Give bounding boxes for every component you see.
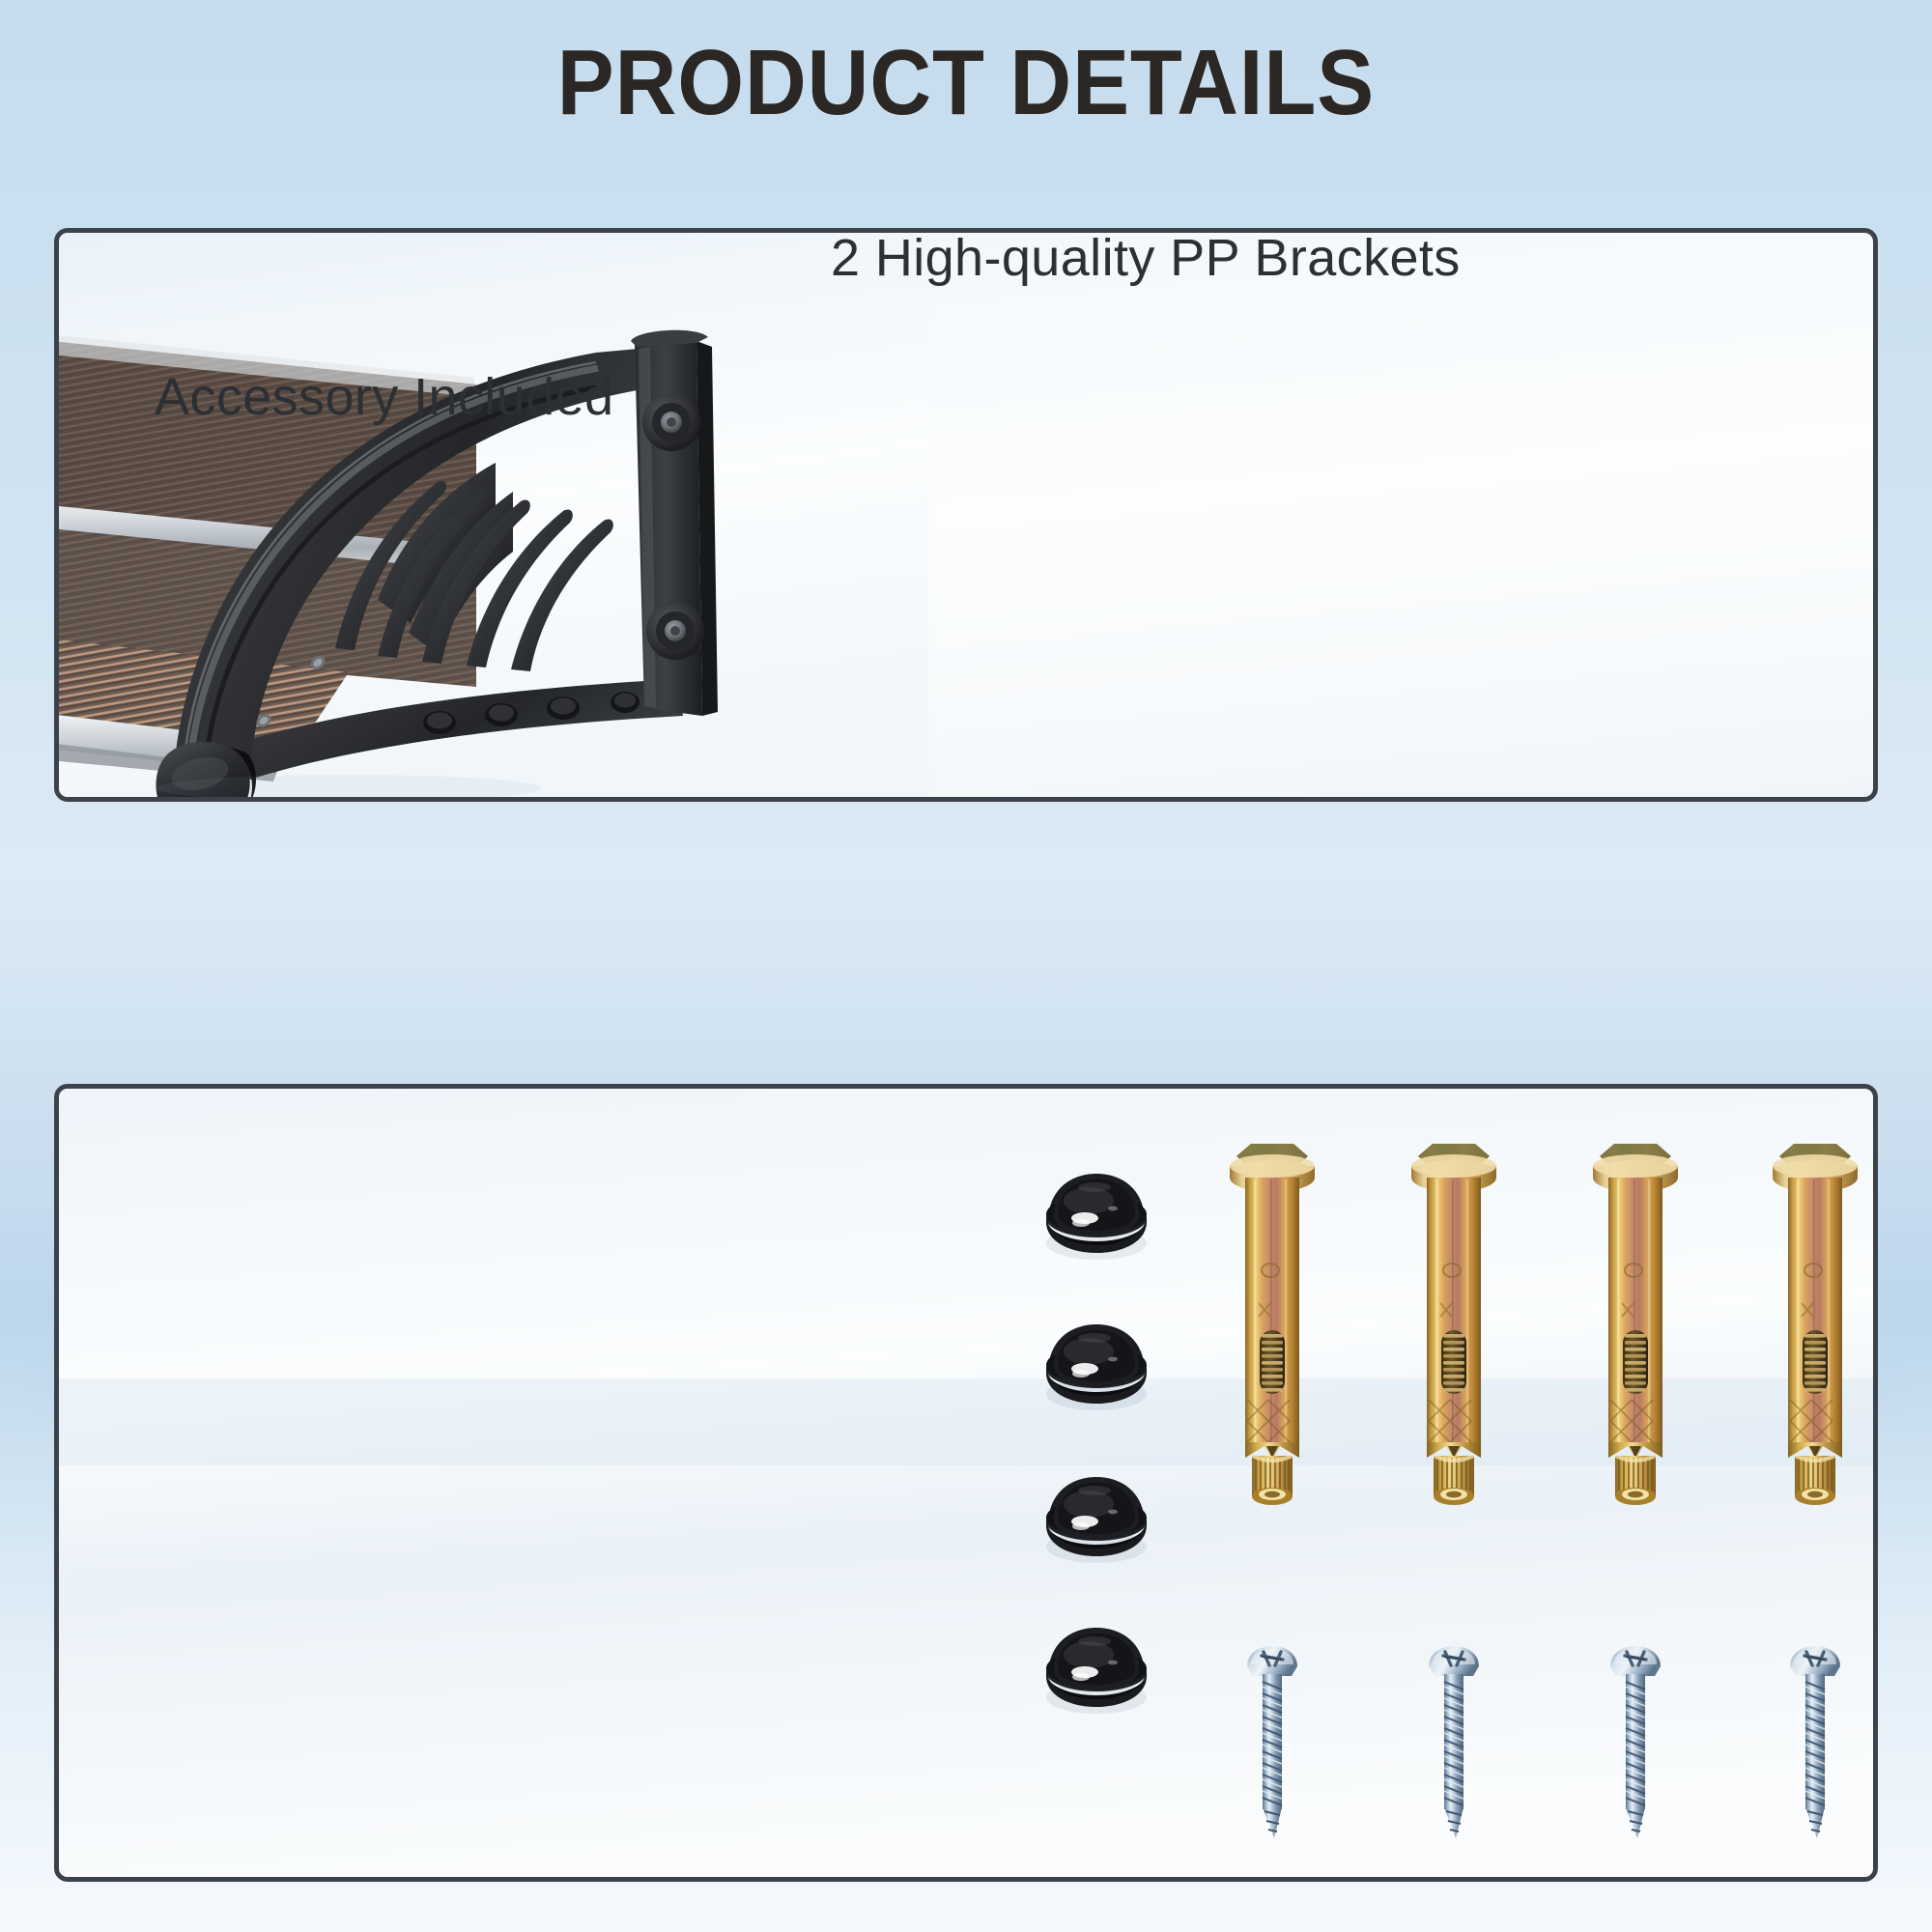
accessory-caption: Accessory Included xyxy=(155,367,613,427)
brackets-panel xyxy=(54,228,1878,802)
header: PRODUCT DETAILS xyxy=(0,35,1932,132)
bracket-mounting-plate xyxy=(631,330,718,716)
accessory-panel xyxy=(54,1084,1878,1882)
page-title: PRODUCT DETAILS xyxy=(557,35,1375,132)
brackets-caption: 2 High-quality PP Brackets xyxy=(831,228,1461,288)
bracket-artwork xyxy=(59,233,928,797)
hardware-artwork xyxy=(59,1089,1873,1877)
